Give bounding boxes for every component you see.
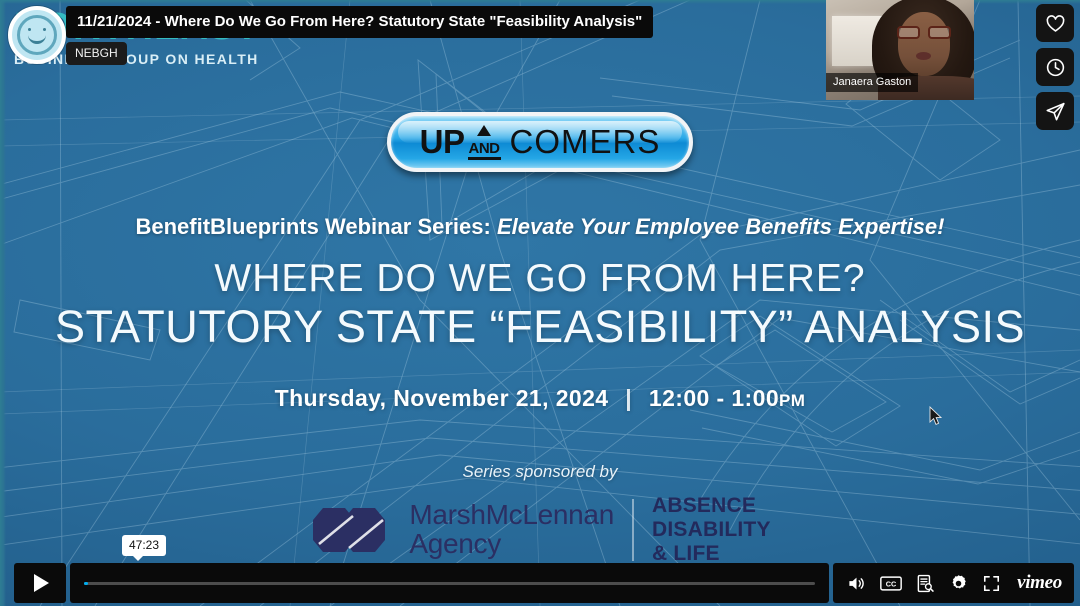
headline-line-2: STATUTORY STATE “FEASIBILITY” ANALYSIS [55, 303, 1025, 351]
absence-disability-life-logo: ABSENCE DISABILITY & LIFE [652, 494, 771, 566]
series-prefix: BenefitBlueprints Webinar Series: [136, 214, 491, 239]
transcript-button[interactable] [916, 574, 935, 593]
speaker-webcam-pip[interactable]: Janaera Gaston [826, 0, 974, 100]
sponsor-1-line1: MarshMcLennan [409, 501, 614, 530]
event-time: 12:00 - 1:00 [649, 385, 779, 411]
logo-comers-text: COMERS [510, 123, 661, 161]
sponsor-1-line2: Agency [409, 530, 614, 559]
settings-button[interactable] [949, 574, 968, 593]
up-and-comers-logo: UP AND COMERS [387, 112, 693, 172]
progress-played [84, 582, 88, 585]
sponsor-label: Series sponsored by [463, 462, 618, 482]
sponsor-row: MarshMcLennan Agency ABSENCE DISABILITY … [309, 494, 770, 566]
speaker-mouth [916, 52, 931, 60]
cursor-arrow-icon [929, 406, 943, 426]
svg-text:CC: CC [886, 579, 897, 588]
progress-bar[interactable]: 47:23 [70, 563, 829, 603]
speaker-name-label: Janaera Gaston [826, 73, 918, 92]
vimeo-wordmark[interactable]: vimeo [1015, 572, 1062, 594]
fullscreen-button[interactable] [982, 574, 1001, 593]
player-controls: 47:23 CC [0, 563, 1080, 603]
slide-headline: WHERE DO WE GO FROM HERE? STATUTORY STAT… [55, 258, 1025, 351]
gear-icon [949, 574, 968, 593]
logo-and-text: AND [468, 140, 501, 160]
video-owner-chip[interactable]: NEBGH [66, 42, 127, 65]
fullscreen-icon [982, 574, 1001, 593]
marsh-mclennan-logo: MarshMcLennan Agency [309, 501, 614, 558]
transcript-search-icon [916, 574, 935, 593]
event-time-ampm: PM [779, 391, 805, 410]
sponsor-2-line2: DISABILITY [652, 518, 771, 542]
play-icon [34, 574, 49, 592]
cc-icon: CC [880, 574, 902, 593]
play-button[interactable] [14, 563, 66, 603]
up-arrow-icon [477, 125, 491, 136]
headline-line-1: WHERE DO WE GO FROM HERE? [55, 258, 1025, 299]
series-tagline: Elevate Your Employee Benefits Expertise… [497, 214, 945, 239]
like-button[interactable] [1036, 4, 1074, 42]
sponsor-2-line1: ABSENCE [652, 494, 771, 518]
glasses-icon [896, 26, 952, 39]
volume-icon [847, 574, 866, 593]
event-datetime: Thursday, November 21, 2024 | 12:00 - 1:… [275, 385, 806, 412]
action-rail [1036, 4, 1074, 130]
share-icon [1045, 101, 1066, 122]
logo-up-text: UP [420, 123, 465, 161]
right-controls: CC [833, 563, 1074, 603]
volume-button[interactable] [847, 574, 866, 593]
series-line: BenefitBlueprints Webinar Series: Elevat… [136, 214, 945, 240]
video-title[interactable]: 11/21/2024 - Where Do We Go From Here? S… [66, 6, 653, 38]
watch-later-button[interactable] [1036, 48, 1074, 86]
clock-icon [1045, 57, 1066, 78]
sponsor-divider [632, 499, 634, 561]
time-tooltip: 47:23 [122, 535, 166, 556]
heart-icon [1045, 13, 1066, 34]
closed-captions-button[interactable]: CC [880, 574, 902, 593]
speaker-face [898, 12, 950, 76]
datetime-separator: | [625, 385, 632, 411]
event-date: Thursday, November 21, 2024 [275, 385, 609, 411]
mouse-cursor [929, 406, 943, 426]
vimeo-player[interactable]: NORTHEAST BUSINESS GROUP ON HEALTH UP AN… [0, 0, 1080, 606]
marsh-mclennan-mark-icon [309, 504, 395, 556]
progress-track[interactable] [84, 582, 815, 585]
share-button[interactable] [1036, 92, 1074, 130]
